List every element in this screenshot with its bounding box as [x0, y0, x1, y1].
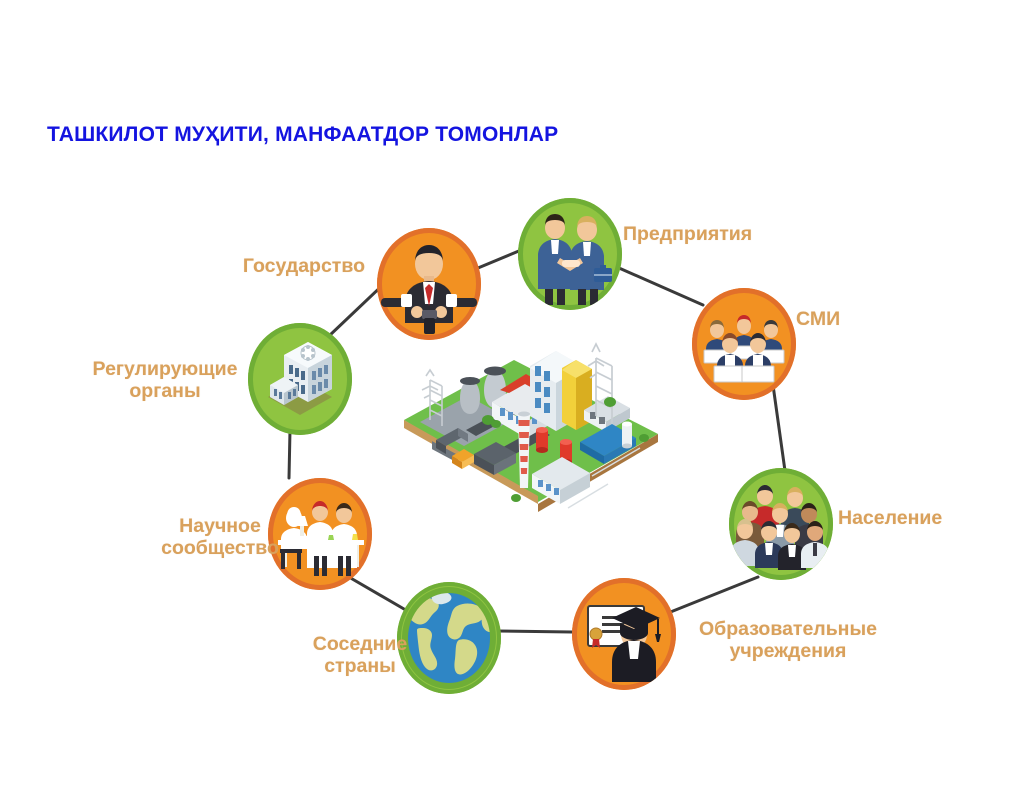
handshake-businessmen-icon	[518, 198, 622, 310]
government-building-icon	[248, 323, 352, 435]
node-label-nauchnoe-soobshchestvo: Научное сообщество	[140, 515, 300, 559]
node-label-predpriyatiya: Предприятия	[623, 223, 813, 245]
crowd-people-icon	[729, 468, 833, 580]
node-reguliruyushchie-organy[interactable]	[248, 323, 352, 435]
node-predpriyatiya[interactable]	[518, 198, 622, 310]
node-label-smi: СМИ	[796, 308, 906, 330]
node-label-sosednie-strany: Соседние страны	[270, 633, 450, 677]
node-label-gosudarstvo: Государство	[215, 255, 365, 277]
graduate-diploma-icon	[572, 578, 676, 690]
node-naselenie[interactable]	[729, 468, 833, 580]
stakeholder-diagram: Государство	[0, 0, 1024, 790]
node-label-naselenie: Население	[838, 507, 998, 529]
slide-canvas: ТАШКИЛОТ МУҲИТИ, МАНФААТДОР ТОМОНЛАР	[0, 0, 1024, 790]
press-journalists-icon	[692, 288, 796, 400]
factory-isometric-icon	[396, 302, 666, 530]
industrial-plant-illustration	[396, 302, 666, 530]
node-obrazovatelnye[interactable]	[572, 578, 676, 690]
node-label-reguliruyushchie-organy: Регулирующие органы	[80, 358, 250, 402]
node-smi[interactable]	[692, 288, 796, 400]
node-label-obrazovatelnye: Образовательные учреждения	[678, 618, 898, 662]
